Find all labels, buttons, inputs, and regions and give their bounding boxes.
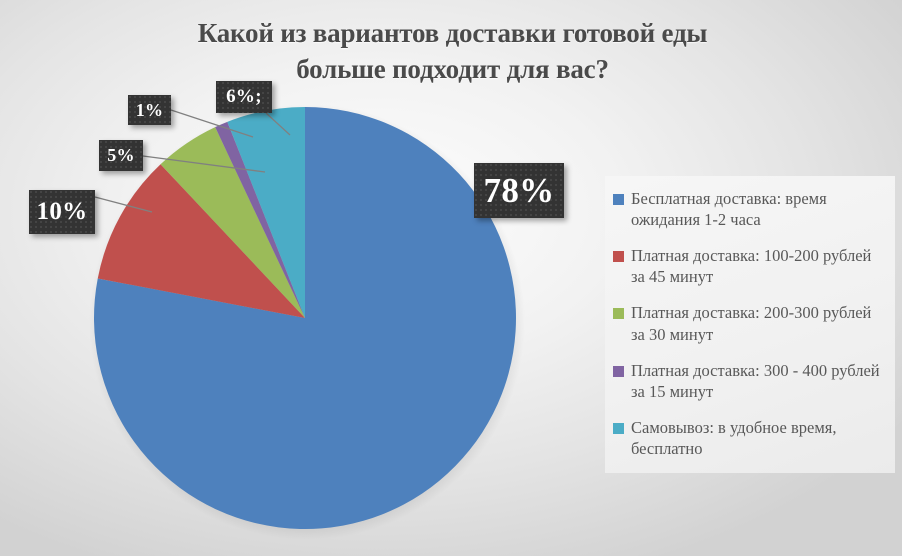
legend-item-free-delivery[interactable]: Бесплатная доставка: время ожидания 1-2 … <box>613 188 885 230</box>
data-label-6: 6%; <box>216 81 272 113</box>
legend-item-paid-100-200[interactable]: Платная доставка: 100-200 рублей за 45 м… <box>613 245 885 287</box>
legend-item-paid-200-300[interactable]: Платная доставка: 200-300 рублей за 30 м… <box>613 302 885 344</box>
legend-item-label: Платная доставка: 300 - 400 рублей за 15… <box>631 360 885 402</box>
legend-item-label: Бесплатная доставка: время ожидания 1-2 … <box>631 188 885 230</box>
legend-swatch-icon <box>613 308 624 319</box>
legend-item-pickup[interactable]: Самовывоз: в удобное время, бесплатно <box>613 417 885 459</box>
legend-item-label: Платная доставка: 200-300 рублей за 30 м… <box>631 302 885 344</box>
data-label-1: 1% <box>128 95 171 125</box>
legend-swatch-icon <box>613 366 624 377</box>
slide-canvas: Какой из вариантов доставки готовой еды … <box>0 0 902 556</box>
data-label-10: 10% <box>29 190 95 234</box>
legend-swatch-icon <box>613 194 624 205</box>
chart-legend: Бесплатная доставка: время ожидания 1-2 … <box>605 176 895 473</box>
legend-swatch-icon <box>613 423 624 434</box>
data-label-5: 5% <box>99 140 143 171</box>
pie-chart: 78% 10% 5% 1% 6%; <box>0 0 620 556</box>
data-label-78: 78% <box>474 163 564 218</box>
pie-slices <box>94 107 516 529</box>
legend-item-label: Самовывоз: в удобное время, бесплатно <box>631 417 885 459</box>
legend-swatch-icon <box>613 251 624 262</box>
pie-chart-svg <box>0 0 620 556</box>
legend-item-label: Платная доставка: 100-200 рублей за 45 м… <box>631 245 885 287</box>
legend-item-paid-300-400[interactable]: Платная доставка: 300 - 400 рублей за 15… <box>613 360 885 402</box>
